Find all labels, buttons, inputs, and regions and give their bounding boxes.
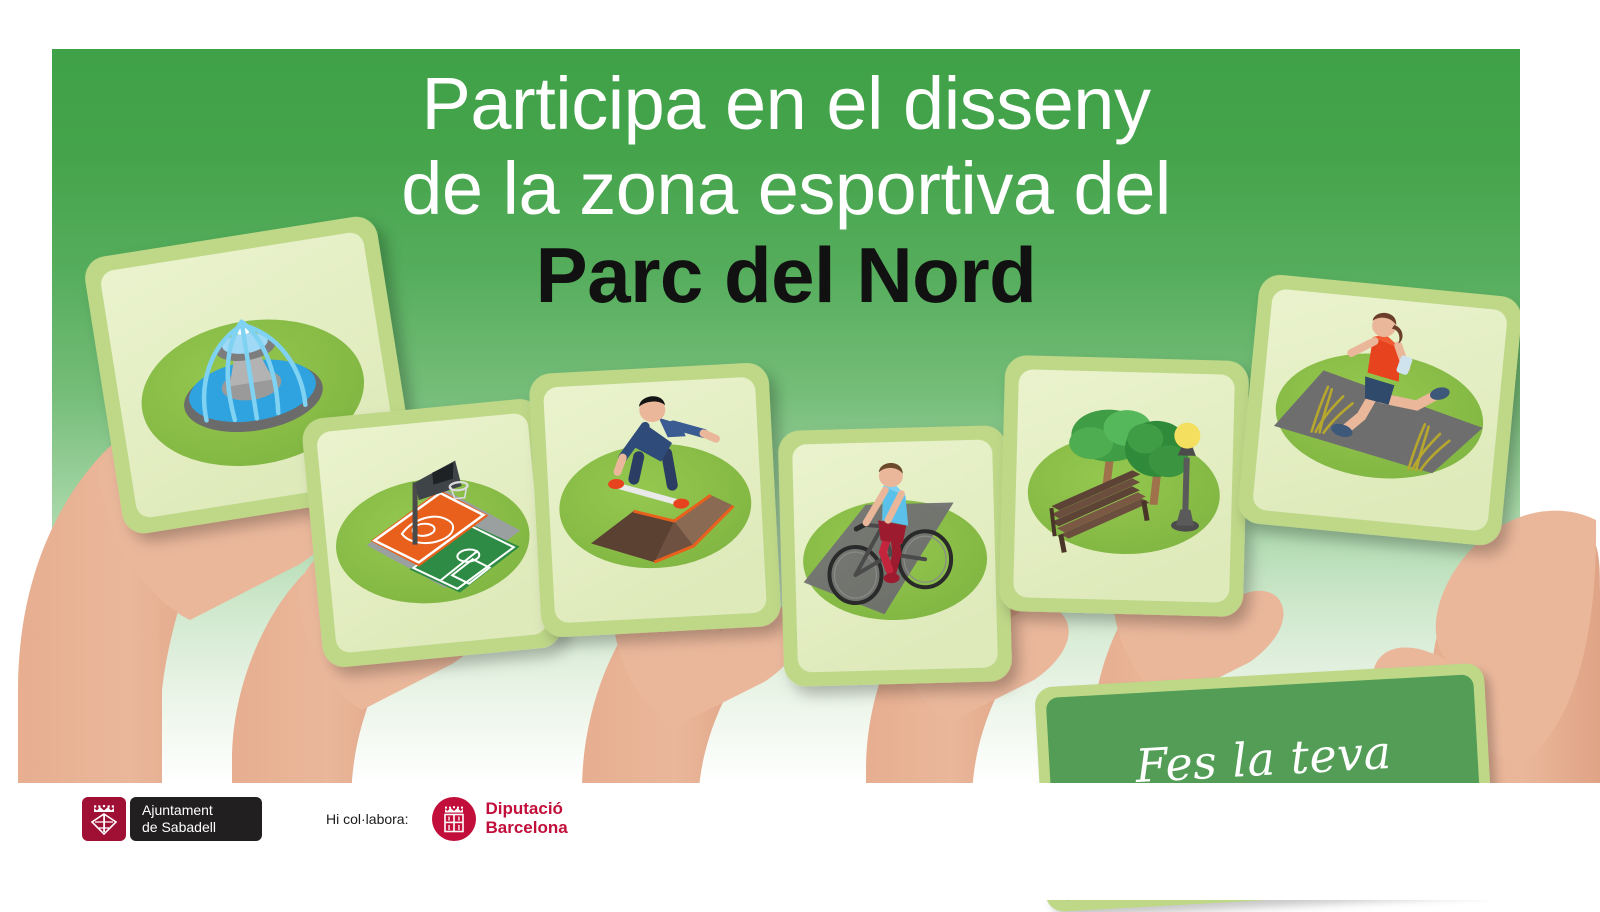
ajuntament-de-sabadell-logo[interactable]: Ajuntament de Sabadell xyxy=(82,797,262,841)
card-cyclist[interactable] xyxy=(778,425,1013,687)
sabadell-wordmark: Ajuntament de Sabadell xyxy=(130,797,262,841)
card-runner[interactable] xyxy=(1237,273,1524,547)
diputacio-line-1: Diputació xyxy=(485,800,567,819)
sabadell-coat-of-arms-icon xyxy=(82,797,126,841)
card-sports-court[interactable] xyxy=(301,397,564,669)
campaign-banner: Participa en el disseny de la zona espor… xyxy=(0,0,1600,900)
diputacio-barcelona-logo[interactable]: Diputació Barcelona xyxy=(432,797,567,841)
diputacio-line-2: Barcelona xyxy=(485,819,567,838)
card-skate-ramp[interactable] xyxy=(528,362,781,638)
collaborator-label: Hi col·labora: xyxy=(326,811,408,827)
sabadell-line-2: de Sabadell xyxy=(142,819,250,836)
logo-row: Ajuntament de Sabadell Hi col·labora: xyxy=(82,797,568,841)
card-bench-trees[interactable] xyxy=(999,355,1250,617)
diputacio-barcelona-seal-icon xyxy=(432,797,476,841)
sabadell-line-1: Ajuntament xyxy=(142,802,250,819)
footer-logos: Ajuntament de Sabadell Hi col·labora: xyxy=(0,783,1600,900)
diputacio-wordmark: Diputació Barcelona xyxy=(485,800,567,837)
